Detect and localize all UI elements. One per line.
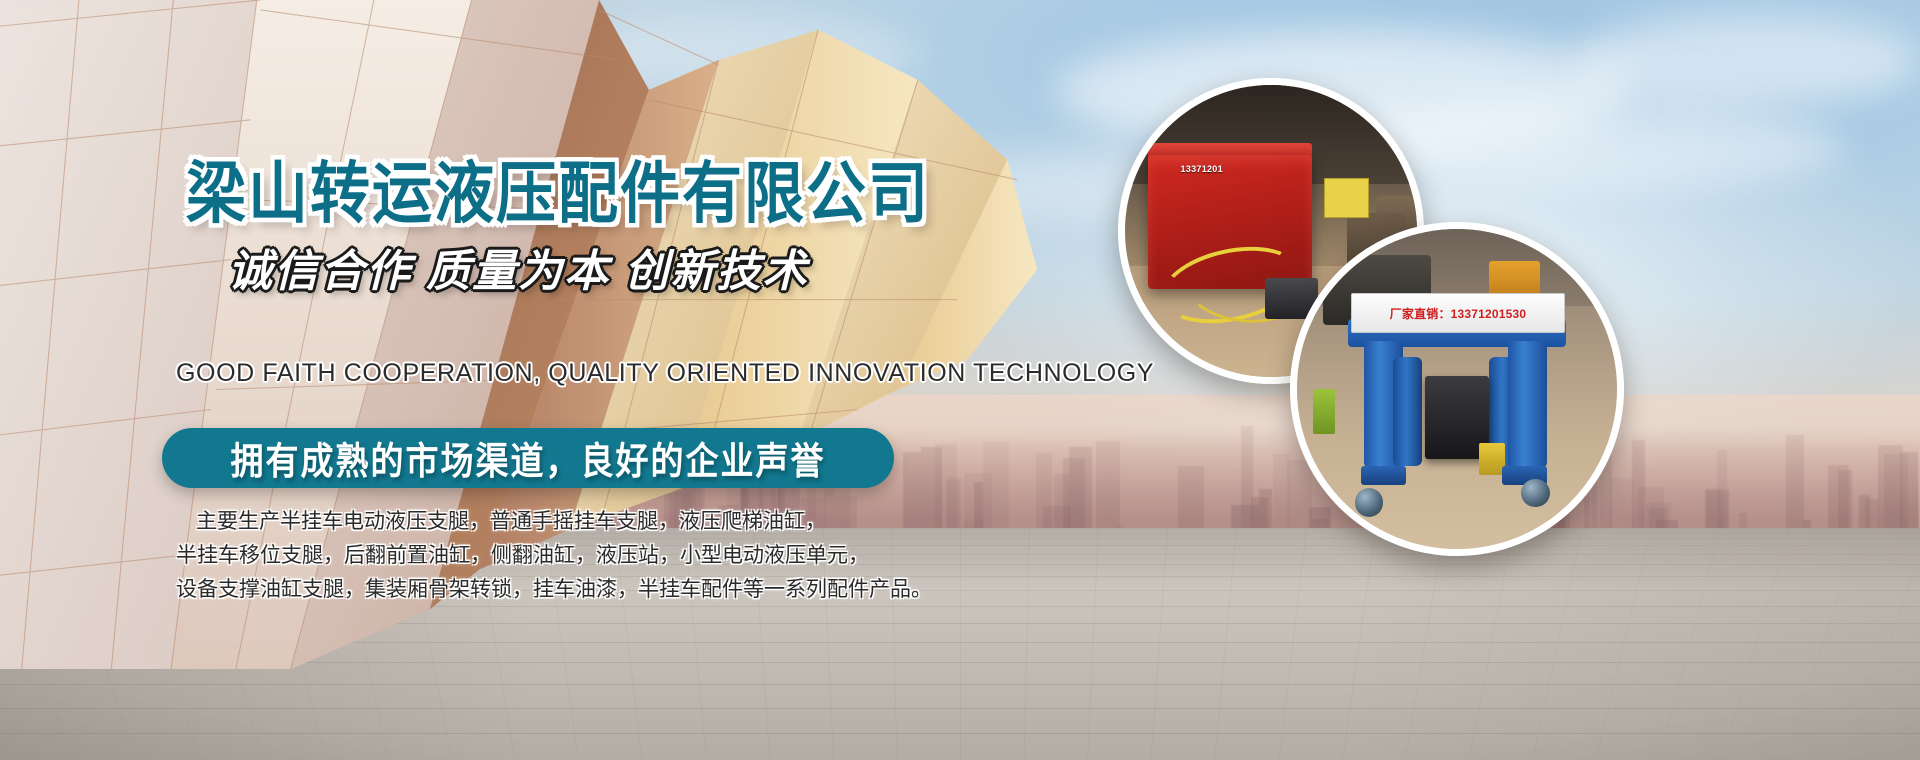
slogan-chinese: 诚信合作 质量为本 创新技术 [228, 246, 808, 298]
plaza-tile-line [1470, 528, 1514, 756]
photo-inner: 厂家直销：13371201530 [1297, 229, 1617, 549]
factory-direct-sign-text: 厂家直销：13371201530 [1390, 305, 1527, 322]
plaza-tile-line [1789, 528, 1860, 749]
slogan-english: GOOD FAITH COOPERATION, QUALITY ORIENTED… [176, 358, 1154, 388]
product-description: 主要生产半挂车电动液压支腿，普通手摇挂车支腿，液压爬梯油缸， 半挂车移位支腿，后… [176, 505, 846, 607]
highlight-pill: 拥有成熟的市场渠道，良好的企业声誉 [162, 428, 894, 488]
blue-hydraulic-leg [1393, 357, 1422, 466]
description-line-2: 半挂车移位支腿，后翻前置油缸，侧翻油缸，液压站，小型电动液压单元， [176, 539, 846, 573]
plaza-tile-line [1725, 528, 1791, 751]
green-component [1313, 389, 1335, 434]
caster-wheel [1355, 488, 1384, 517]
warning-sticker [1324, 178, 1370, 218]
plaza-tile-line [1278, 528, 1306, 758]
support-foot [1361, 466, 1406, 485]
hero-banner: 梁山转运液压配件有限公司 诚信合作 质量为本 创新技术 GOOD FAITH C… [0, 0, 1920, 760]
description-line-1: 主要生产半挂车电动液压支腿，普通手摇挂车支腿，液压爬梯油缸， [176, 505, 846, 539]
company-title: 梁山转运液压配件有限公司 [186, 158, 930, 230]
blue-landing-gear-photo: 厂家直销：13371201530 [1290, 222, 1624, 556]
plaza-tile-line [1661, 528, 1721, 752]
plaza-tile-line [1853, 528, 1920, 747]
description-line-3: 设备支撑油缸支腿，集装厢骨架转锁，挂车油漆，半挂车配件等一系列配件产品。 [176, 573, 846, 607]
plaza-tile-line [1533, 528, 1583, 755]
highlight-pill-label: 拥有成熟的市场渠道，良好的企业声誉 [231, 431, 826, 486]
plaza-tile-line [1597, 528, 1652, 754]
plaza-tile-line [1342, 528, 1376, 758]
plaza-tile-line [1406, 528, 1445, 757]
red-unit-phone-label: 13371201 [1180, 164, 1222, 174]
cloud [1574, 15, 1920, 106]
plaza-tile-line [1151, 528, 1168, 759]
plaza-tile-line [1215, 528, 1238, 759]
caster-wheel [1521, 479, 1550, 508]
plaza-tile-line [1087, 528, 1099, 760]
factory-direct-sign: 厂家直销：13371201530 [1351, 293, 1564, 333]
banner-text-block: 梁山转运液压配件有限公司 诚信合作 质量为本 创新技术 GOOD FAITH C… [0, 0, 1020, 760]
cloud [1344, 106, 1843, 190]
blue-hydraulic-leg [1508, 341, 1546, 469]
